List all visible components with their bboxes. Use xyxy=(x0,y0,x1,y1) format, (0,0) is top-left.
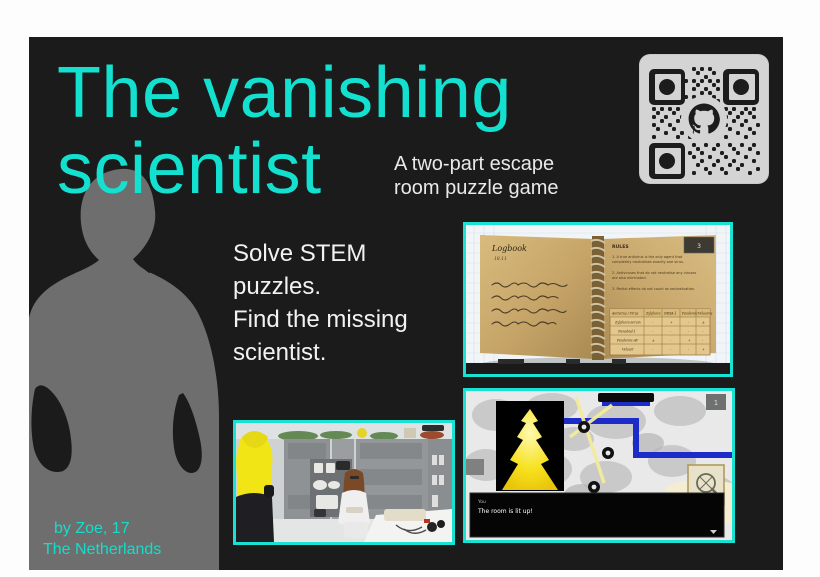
notebook-date: 18.11 xyxy=(494,256,507,262)
byline-author: by Zoe, 17 xyxy=(43,518,161,539)
svg-text:-: - xyxy=(670,330,671,334)
svg-text:+: + xyxy=(702,348,705,352)
svg-text:1. A true antivirus is the onl: 1. A true antivirus is the only agent th… xyxy=(612,255,683,259)
svg-text:3. Partial effects do not coun: 3. Partial effects do not count as neutr… xyxy=(612,287,695,291)
poster-panel: The vanishing scientist A two-part escap… xyxy=(29,37,783,570)
thumbnail-notebook[interactable]: Logbook 18.11 RULES 1. A true antivirus … xyxy=(463,222,733,377)
github-icon xyxy=(681,96,727,142)
svg-text:2. Antiviruses that do not neu: 2. Antiviruses that do not neutralise an… xyxy=(612,271,696,275)
subtitle-line-2: room puzzle game xyxy=(394,176,559,200)
thumbnail-escape-room-photo[interactable] xyxy=(233,420,455,545)
svg-text:-: - xyxy=(688,321,689,325)
svg-text:-: - xyxy=(670,339,671,343)
svg-text:Pandemic: Pandemic xyxy=(681,312,698,316)
svg-text:-: - xyxy=(688,348,689,352)
tagline-line-1: Solve STEM xyxy=(233,237,408,270)
svg-text:-: - xyxy=(702,339,703,343)
poster-subtitle: A two-part escape room puzzle game xyxy=(394,152,559,200)
svg-text:Velouri: Velouri xyxy=(622,348,633,352)
svg-text:-: - xyxy=(670,348,671,352)
byline-country: The Netherlands xyxy=(43,539,161,560)
svg-text:NEXA-1: NEXA-1 xyxy=(663,312,677,316)
svg-text:Zylphora: Zylphora xyxy=(645,312,661,316)
title-line-1: The vanishing xyxy=(57,55,512,131)
notebook-rules-heading: RULES xyxy=(612,244,629,250)
svg-text:completely neutralises exactly: completely neutralises exactly one virus… xyxy=(612,260,684,264)
dialog-text: The room is lit up! xyxy=(477,508,533,515)
svg-text:±: ± xyxy=(652,339,655,343)
svg-text:-: - xyxy=(652,330,653,334)
poster-tagline: Solve STEM puzzles. Find the missing sci… xyxy=(233,237,408,369)
tagline-line-2: puzzles. xyxy=(233,270,408,303)
svg-text:-: - xyxy=(652,348,653,352)
svg-text:Velourna: Velourna xyxy=(698,312,712,316)
svg-text:-: - xyxy=(702,330,703,334)
game-page-number: 1 xyxy=(714,399,718,407)
svg-text:-: - xyxy=(688,330,689,334)
tagline-line-4: scientist. xyxy=(233,336,408,369)
svg-text:±: ± xyxy=(702,321,705,325)
subtitle-line-1: A two-part escape xyxy=(394,152,559,176)
svg-text:+: + xyxy=(670,321,673,325)
poster-page: The vanishing scientist A two-part escap… xyxy=(0,0,820,577)
svg-text:+: + xyxy=(688,339,691,343)
qr-code[interactable] xyxy=(640,55,768,183)
notebook-logbook-heading: Logbook xyxy=(491,244,527,253)
svg-text:Antivirus / Virus: Antivirus / Virus xyxy=(611,312,639,316)
author-byline: by Zoe, 17 The Netherlands xyxy=(43,518,161,560)
svg-text:Nanobial-1: Nanobial-1 xyxy=(617,330,636,334)
notebook-page-number: 3 xyxy=(697,243,701,250)
dialog-speaker: You xyxy=(477,499,486,505)
svg-text:-: - xyxy=(652,321,653,325)
scientist-silhouette xyxy=(29,167,244,570)
thumbnail-game-screen[interactable]: 1 You The room is lit up! xyxy=(463,388,735,543)
svg-text:are also eliminated.: are also eliminated. xyxy=(612,276,647,280)
tagline-line-3: Find the missing xyxy=(233,303,408,336)
svg-text:Zylphora-serum: Zylphora-serum xyxy=(614,321,641,325)
svg-text:Pandemic-AV: Pandemic-AV xyxy=(616,339,639,343)
